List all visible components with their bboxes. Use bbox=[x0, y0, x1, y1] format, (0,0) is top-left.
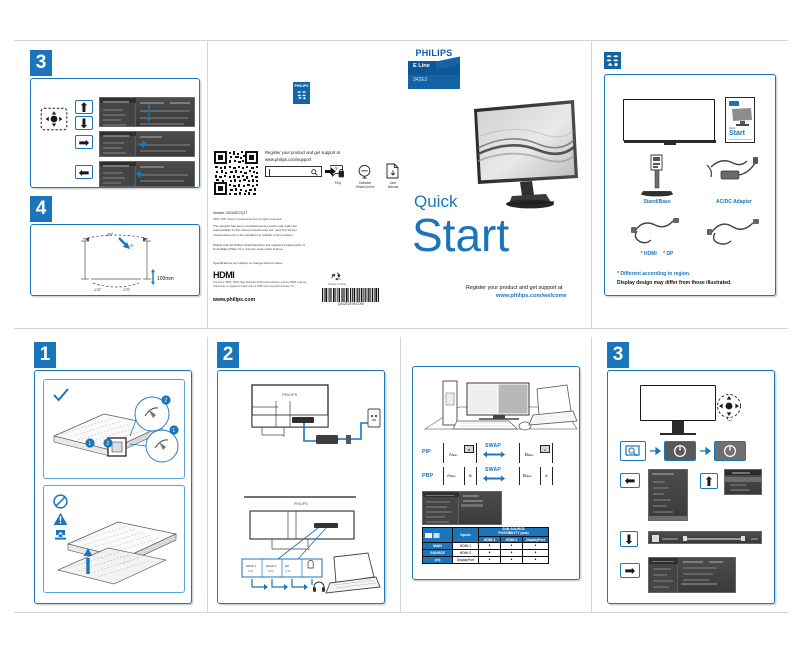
search-icon bbox=[311, 169, 318, 176]
pbp-swap-label: SWAP bbox=[485, 467, 501, 473]
step-3-osd-navigation: ⬆ ⬇ ➡ bbox=[30, 78, 200, 188]
svg-text:HDMI 1: HDMI 1 bbox=[246, 564, 256, 568]
prohibited-icon bbox=[53, 494, 68, 509]
step-4-ergonomics: 20° -5° -175° 175° 100mm bbox=[30, 224, 200, 296]
register-main-text: Register your product and get support at bbox=[466, 285, 563, 291]
svg-text:PHILIPS: PHILIPS bbox=[294, 502, 308, 506]
pip-desk-scene bbox=[413, 371, 581, 445]
step-number-4: 4 bbox=[30, 196, 52, 222]
step-2-cable-connection: PHILIPS PHILIPS HDMI 1 bbox=[217, 370, 385, 604]
osd-menu-updown bbox=[99, 97, 195, 127]
register-main-url: www.philips.com/welcome bbox=[496, 293, 567, 299]
step-number-3-bottom: 3 bbox=[607, 342, 629, 368]
search-input[interactable] bbox=[265, 166, 322, 177]
part-stand-base bbox=[637, 153, 677, 199]
legal-version: Version: M2342E2Q1T bbox=[213, 211, 318, 215]
cell-2-0: • bbox=[479, 557, 501, 564]
osd-left-arrow-indicator bbox=[136, 170, 146, 178]
parts-footnote-region: * Different according to region. bbox=[617, 271, 690, 277]
row-input-hdmi1: HDMI 1 bbox=[453, 543, 479, 550]
osd-menu-right bbox=[99, 131, 195, 157]
pip-pbp-panel: PIP AMain B SWAP BMain A PBP AMain B SWA… bbox=[412, 366, 580, 580]
step-3-power-on: ⬅ ⬆ ⬇ bbox=[607, 370, 775, 604]
step-1-warning-subpanel bbox=[43, 485, 185, 593]
software-smartcontrol-icon[interactable] bbox=[357, 164, 372, 179]
column-rule-1 bbox=[207, 40, 208, 328]
column-rule-5 bbox=[591, 337, 592, 612]
cell-0-2: • bbox=[523, 543, 549, 550]
nav-left-button[interactable]: ⬅ bbox=[620, 473, 640, 488]
row-input-hdmi2: HDMI 2 bbox=[453, 550, 479, 557]
height-adjust-label: 100mm bbox=[157, 276, 174, 282]
sequence-arrow-2-icon bbox=[700, 447, 711, 455]
cell-0-0: • bbox=[479, 543, 501, 550]
monitor-hero-image bbox=[462, 92, 590, 210]
cell-1-0: • bbox=[479, 550, 501, 557]
monitor-base-front bbox=[660, 433, 696, 435]
step-1-stand-assembly: 2 1 1 2 bbox=[34, 370, 192, 604]
main-source-label-2: SOURCE bbox=[423, 550, 453, 557]
source-matrix-table: Inputs SUB SOURCEPOSSIBILITY (sub) HDMI … bbox=[422, 527, 549, 564]
svg-text:2: 2 bbox=[106, 441, 109, 447]
user-manual-icon[interactable] bbox=[386, 163, 400, 179]
part-dp-cable bbox=[705, 215, 763, 251]
checkmark-icon bbox=[53, 388, 69, 402]
arrow-right-icon: ➡ bbox=[79, 136, 90, 149]
stand-base-label: Stand/Base bbox=[621, 199, 693, 205]
pbp-before-figure: AMain B bbox=[443, 467, 477, 485]
legal-paragraph-2: Philips and the Philips Shield Emblem ar… bbox=[213, 243, 313, 252]
cell-1-1: • bbox=[501, 550, 523, 557]
top-rule bbox=[14, 40, 788, 41]
pip-after-figure: BMain A bbox=[519, 443, 553, 463]
step-number-1: 1 bbox=[34, 342, 56, 368]
table-corner-icon bbox=[424, 532, 451, 539]
svg-text:20°: 20° bbox=[107, 232, 114, 237]
table-row: (or) DisplayPort • • • bbox=[423, 557, 549, 564]
nav-down-button[interactable]: ⬇ bbox=[620, 531, 638, 547]
parts-footnote-design: Display design may differ from those ill… bbox=[617, 280, 731, 286]
svg-text:?: ? bbox=[334, 168, 337, 174]
product-line-label: E Line bbox=[413, 63, 430, 69]
pip-before-figure: AMain B bbox=[443, 443, 477, 463]
legal-paragraph-1: This product has been manufactured by an… bbox=[213, 224, 313, 237]
pip-source-table: Inputs SUB SOURCEPOSSIBILITY (sub) HDMI … bbox=[422, 527, 549, 564]
pip-swap-label: SWAP bbox=[485, 443, 501, 449]
joystick-icon bbox=[40, 107, 68, 131]
osd-main-menu bbox=[648, 469, 688, 521]
hdmi-cable-label: * HDMI bbox=[641, 251, 657, 257]
column-rule-2 bbox=[591, 40, 592, 328]
step-1-correct-subpanel: 2 1 1 2 bbox=[43, 379, 185, 479]
faq-label: FAQ bbox=[327, 181, 349, 185]
row-input-displayport: DisplayPort bbox=[453, 557, 479, 564]
joystick-callout-icon[interactable] bbox=[714, 393, 744, 423]
arrow-left-icon: ⬅ bbox=[79, 166, 90, 179]
main-source-label-3: (or) bbox=[423, 557, 453, 564]
support-url: www.philips.com/support bbox=[265, 157, 385, 162]
arrow-up-icon-2: ⬆ bbox=[704, 475, 715, 488]
ac-dc-adapter-label: AC/DC Adapter bbox=[697, 199, 771, 205]
arrow-up-icon: ⬆ bbox=[79, 101, 90, 114]
cell-2-1: • bbox=[501, 557, 523, 564]
nav-up-button[interactable]: ⬆ bbox=[700, 473, 718, 489]
cell-2-2: • bbox=[523, 557, 549, 564]
barcode bbox=[322, 288, 380, 302]
software-smartcontrol-label: Software SmartControl bbox=[353, 181, 377, 189]
table-row: MAIN HDMI 1 • • • bbox=[423, 543, 549, 550]
joystick-left-button[interactable]: ⬅ bbox=[75, 165, 93, 179]
step-number-2: 2 bbox=[217, 342, 239, 368]
monitor-stand-front bbox=[672, 421, 684, 433]
table-row: SOURCE HDMI 2 • • • bbox=[423, 550, 549, 557]
svg-text:HDMI 2: HDMI 2 bbox=[266, 564, 276, 568]
svg-text:(1.2): (1.2) bbox=[285, 569, 290, 573]
joystick-up-button[interactable]: ⬆ bbox=[75, 100, 93, 114]
osd-updown-indicator bbox=[147, 104, 150, 122]
pbp-swap-arrow-icon bbox=[483, 475, 505, 482]
arrow-right-icon-2: ➡ bbox=[625, 564, 636, 577]
sub-source-header: SUB SOURCEPOSSIBILITY (sub) bbox=[479, 528, 549, 537]
hdmi-trademark-notice: The terms HDMI, HDMI High-Definition Mul… bbox=[213, 281, 309, 288]
svg-text:DP: DP bbox=[285, 564, 289, 568]
connection-diagram: PHILIPS PHILIPS HDMI 1 bbox=[218, 371, 386, 605]
faq-icon[interactable]: ? bbox=[330, 164, 345, 179]
part-hdmi-cable bbox=[629, 215, 687, 251]
legal-spec-notice: Specifications are subject to change wit… bbox=[213, 261, 313, 265]
power-button-1[interactable] bbox=[664, 441, 696, 461]
cell-1-2: • bbox=[523, 550, 549, 557]
monitor-front-view bbox=[640, 385, 716, 421]
svg-text:2: 2 bbox=[164, 398, 167, 404]
philips-sheet-logo: PHILIPS bbox=[293, 82, 310, 104]
svg-text:1: 1 bbox=[172, 428, 175, 434]
svg-text:-5°: -5° bbox=[129, 243, 135, 248]
philips-website: www.philips.com bbox=[213, 297, 255, 303]
pbp-after-figure: BMain A bbox=[519, 467, 553, 485]
qr-code bbox=[213, 150, 259, 196]
cell-0-1: • bbox=[501, 543, 523, 550]
warning-icon bbox=[53, 512, 68, 526]
power-button-2[interactable] bbox=[714, 441, 746, 461]
arrow-left-icon-2: ⬅ bbox=[625, 474, 636, 487]
joystick-down-button[interactable]: ⬇ bbox=[75, 116, 93, 130]
osd-input-menu bbox=[724, 469, 762, 495]
pip-osd-menu bbox=[422, 491, 502, 525]
leaflet-start-label: Start bbox=[729, 130, 745, 137]
column-rule-4 bbox=[400, 337, 401, 612]
hdmi-logo: HDMI bbox=[213, 270, 234, 280]
svg-text:(2.0): (2.0) bbox=[248, 569, 253, 573]
support-register-text: Register your product and get support at bbox=[265, 150, 385, 155]
part-ac-dc-adapter bbox=[705, 153, 763, 195]
pbp-row-label: PBP bbox=[422, 473, 433, 479]
osd-menu-left bbox=[99, 161, 195, 187]
arrow-down-icon: ⬇ bbox=[79, 117, 90, 130]
dp-cable-label: * DP bbox=[663, 251, 673, 257]
nav-right-button[interactable]: ➡ bbox=[620, 563, 640, 578]
arrow-down-icon-2: ⬇ bbox=[624, 533, 635, 546]
power-icon-1 bbox=[673, 444, 687, 458]
part-quick-start-leaflet: Quick Start www.philips.com/welcome bbox=[725, 97, 755, 143]
step-number-3-top: 3 bbox=[30, 50, 52, 76]
svg-text:-175°: -175° bbox=[93, 288, 102, 292]
title-start: Start bbox=[412, 212, 509, 258]
bottom-rule bbox=[14, 612, 788, 613]
svg-text:1: 1 bbox=[88, 441, 91, 447]
quick-start-sheet: 3 ⬆ ⬇ bbox=[0, 0, 802, 646]
no-press-screen-icon bbox=[53, 529, 68, 542]
osd-submenu bbox=[648, 557, 736, 593]
user-manual-label: User Manual bbox=[382, 181, 404, 189]
recycle-label: Printed in China bbox=[322, 283, 352, 287]
joystick-right-button[interactable]: ➡ bbox=[75, 135, 93, 149]
osd-brightness-slider[interactable] bbox=[648, 531, 762, 544]
svg-text:PHILIPS: PHILIPS bbox=[282, 392, 298, 397]
philips-shield-icon bbox=[604, 52, 621, 69]
svg-text:(2.0): (2.0) bbox=[268, 569, 273, 573]
search-caret bbox=[269, 169, 270, 176]
osd-right-arrow-indicator bbox=[137, 140, 147, 148]
svg-text:175°: 175° bbox=[123, 288, 131, 292]
main-source-label-1: MAIN bbox=[423, 543, 453, 550]
pip-row-label: PIP bbox=[422, 449, 431, 455]
product-model-label: 342E2 bbox=[413, 77, 427, 83]
inputs-header: Inputs bbox=[453, 528, 479, 543]
mid-rule bbox=[14, 328, 788, 329]
column-rule-3 bbox=[207, 337, 208, 612]
part-monitor-panel bbox=[623, 99, 715, 141]
source-search-button[interactable] bbox=[620, 441, 646, 461]
product-badge: PHILIPS E Line 342E2 bbox=[408, 44, 460, 89]
legal-copyright: 2021 TOP Victory Investments Ltd. All ri… bbox=[213, 217, 318, 221]
power-icon-2 bbox=[723, 444, 737, 458]
ergonomics-diagram: 20° -5° -175° 175° 100mm bbox=[31, 225, 201, 297]
source-search-icon bbox=[625, 445, 641, 458]
parts-panel: Quick Start www.philips.com/welcome Stan… bbox=[604, 74, 776, 296]
recycle-icon bbox=[330, 271, 343, 282]
pip-swap-arrow-icon bbox=[483, 451, 505, 458]
barcode-number: Q342E2EVE1T/00 bbox=[322, 302, 380, 306]
sequence-arrow-1-icon bbox=[650, 447, 661, 455]
